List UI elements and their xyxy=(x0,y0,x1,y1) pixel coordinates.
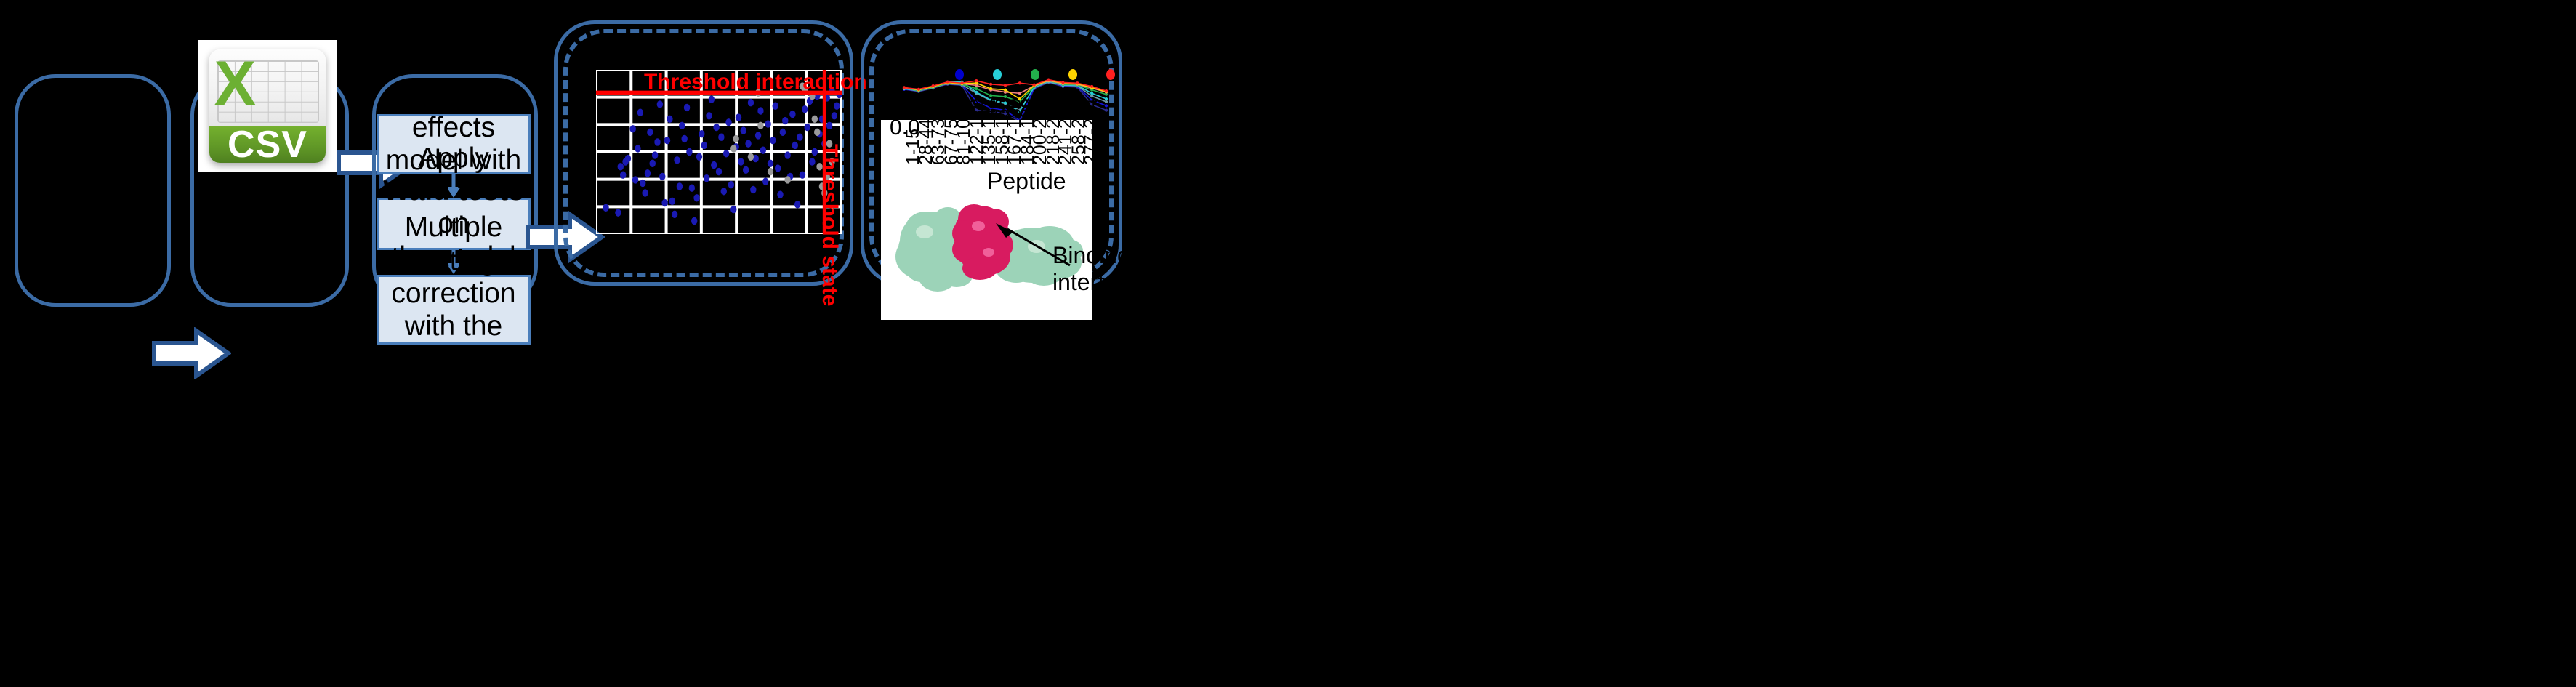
binding-figure-card: 0.0 1-1528-4463-7367-7581-101122-129135-… xyxy=(881,120,1092,320)
csv-file-icon: X CSV xyxy=(198,40,337,172)
arrow-into-csv xyxy=(151,327,231,379)
threshold-interaction-label: Threshold interaction xyxy=(644,70,867,95)
legend-dot-series-green xyxy=(1031,69,1039,80)
input-data-panel xyxy=(15,74,171,307)
bh-keyword: BH xyxy=(433,343,474,374)
csv-x-letter: X xyxy=(214,52,256,115)
peptide-chart-legend xyxy=(900,69,1111,84)
legend-dot-series-red xyxy=(1106,69,1115,80)
binding-interface-arrow xyxy=(991,222,1071,273)
legend-dot-series-cyan xyxy=(993,69,1002,80)
csv-label-band: CSV xyxy=(209,126,325,163)
csv-label-text: CSV xyxy=(228,123,307,163)
process-step-bh: Multiple testing correction with the BH … xyxy=(377,275,531,345)
legend-dot-series-yellow xyxy=(1068,69,1077,80)
x-tick-277-284: 277-284 xyxy=(1081,98,1102,165)
step-bh-text: Multiple testing correction with the BH … xyxy=(385,211,523,408)
legend-dot-series-blue xyxy=(955,69,964,80)
csv-tile: X CSV xyxy=(209,49,325,164)
threshold-state-label: Threshold state xyxy=(817,144,842,306)
wald-keyword: Wald tests xyxy=(383,175,524,206)
peptide-x-axis-ticks: 1-1528-4463-7367-7581-101122-129135-1441… xyxy=(881,123,1092,168)
